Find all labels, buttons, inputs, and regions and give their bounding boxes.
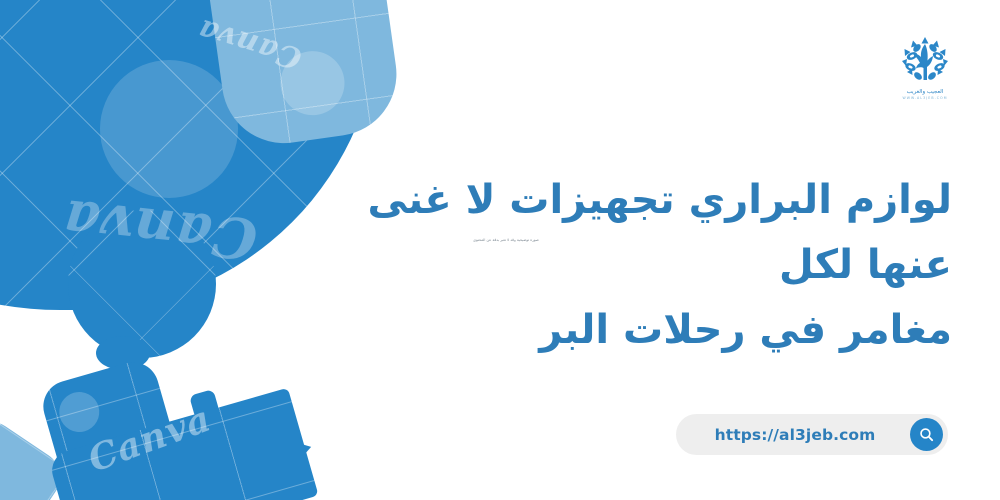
- grid-pattern: [201, 0, 405, 151]
- ornamental-tree-mandala-icon: [897, 36, 953, 86]
- decor-dot: [55, 387, 104, 436]
- grid-pattern: [47, 388, 318, 500]
- grid-pattern: [96, 336, 150, 370]
- decor-rounded-square-bottom-left: [37, 356, 185, 500]
- grid-pattern: [0, 412, 70, 500]
- decor-long-bar-bottom-left: [47, 388, 318, 500]
- site-url-text: https://al3jeb.com: [715, 426, 876, 444]
- promo-banner: Canva Canva Canva: [0, 0, 1000, 500]
- decor-dot: [100, 60, 238, 198]
- headline-line-2: مغامر في رحلات البر: [539, 307, 952, 353]
- canva-watermark: Canva: [59, 186, 260, 272]
- headline-line-1: لوازم البراري تجهيزات لا غنى عنها لكل: [368, 177, 952, 288]
- decor-dot: [276, 47, 348, 119]
- grid-pattern: [68, 210, 216, 358]
- logo-wordmark: العجيب والغريب: [907, 89, 944, 96]
- magnifier-icon: [918, 426, 935, 443]
- image-credit-note: صورة توضيحية وقد لا تعبر بدقة عن المحتوى: [468, 238, 544, 242]
- decor-arrow-tip: [261, 420, 319, 486]
- decor-circle-middle-left: [68, 210, 216, 358]
- canva-watermark: Canva: [83, 397, 217, 480]
- decor-notch-top: [282, 0, 363, 50]
- logo-url-line: WWW.AL3JEB.COM: [902, 96, 947, 100]
- decor-tongue-top-right: [201, 0, 405, 151]
- decor-circle-small: [96, 336, 150, 370]
- canva-watermark: Canva: [193, 11, 306, 76]
- page-title: لوازم البراري تجهيزات لا غنى عنها لكل مغ…: [292, 168, 952, 362]
- decor-tiny-square: [189, 389, 220, 420]
- grid-pattern: [37, 356, 185, 500]
- site-logo[interactable]: العجيب والغريب WWW.AL3JEB.COM: [890, 36, 960, 100]
- url-search-bar[interactable]: https://al3jeb.com: [676, 414, 948, 455]
- decor-wedge-bottom-left: [0, 412, 70, 500]
- search-button[interactable]: [910, 418, 943, 451]
